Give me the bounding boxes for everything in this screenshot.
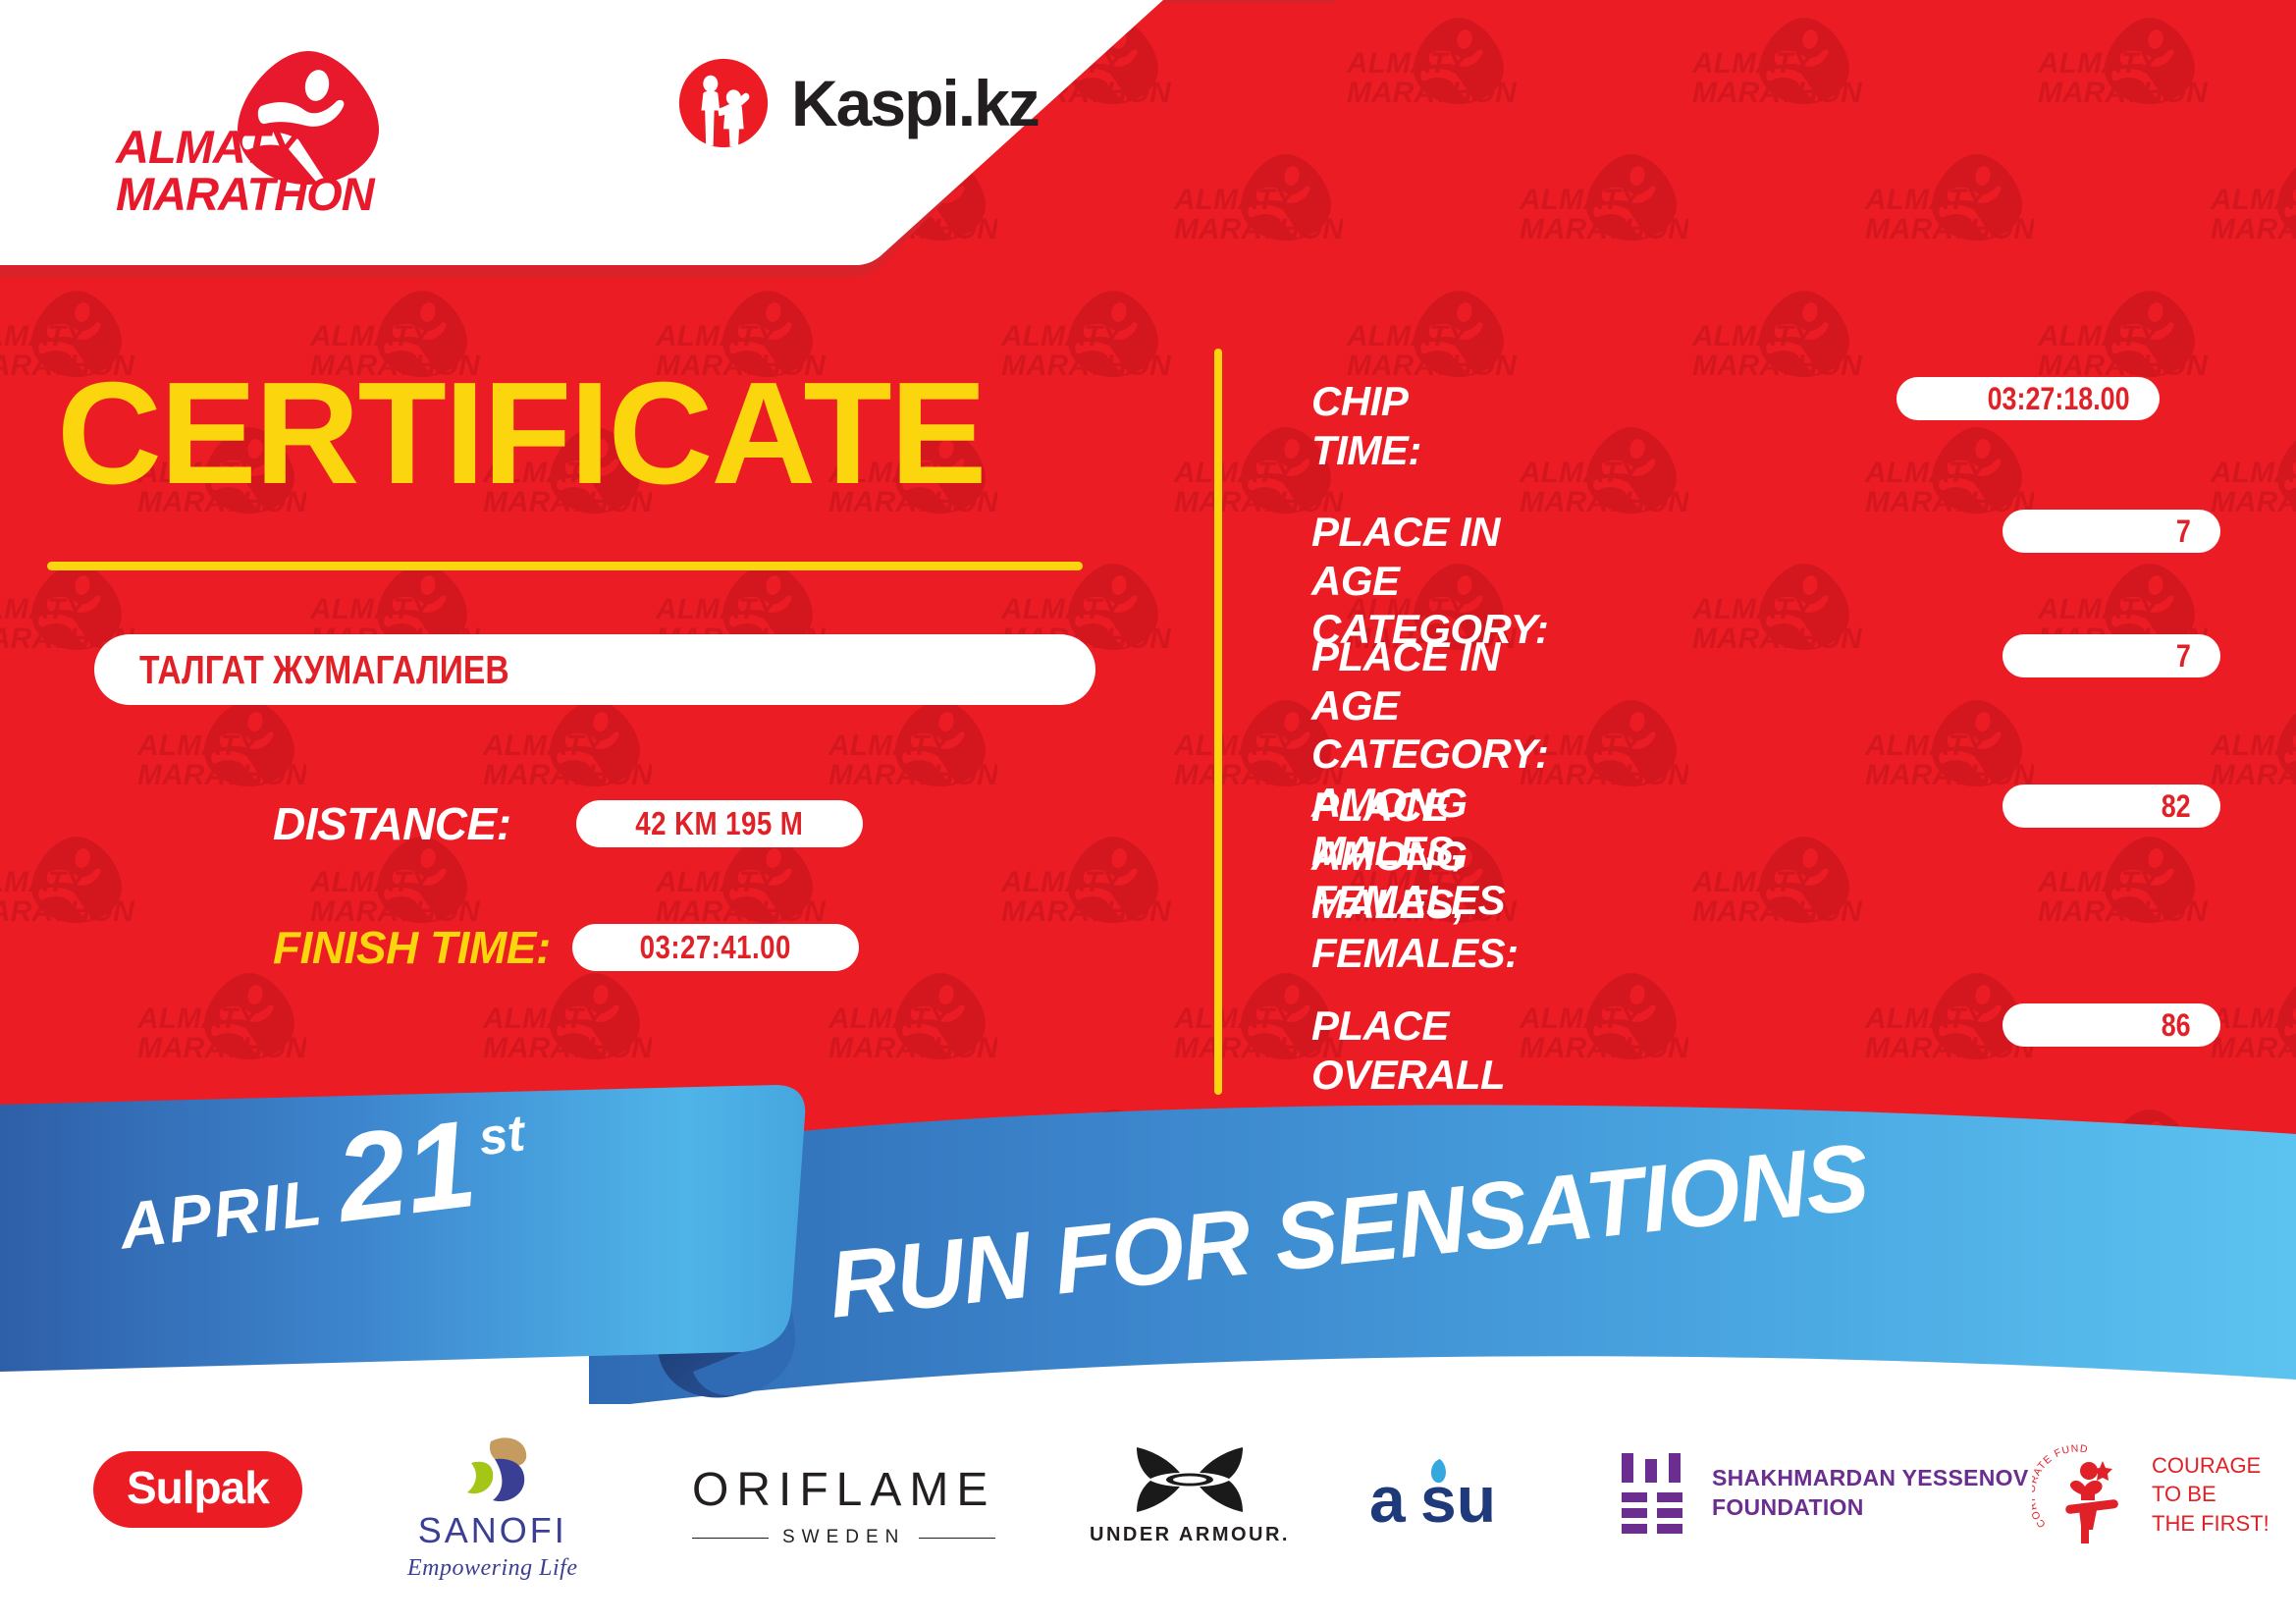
finish-time-label: FINISH TIME: <box>273 921 551 974</box>
place-overall-ranking-label: PLACE OVERALL RANKING: <box>1311 1001 1514 1148</box>
column-divider <box>1214 349 1222 1095</box>
oriflame-sub: SWEDEN <box>782 1527 905 1548</box>
kaspi-people-circle-icon <box>677 57 770 149</box>
certificate-canvas: ALMATY MARATHON Kaspi.kz CERTIFICATE ТАЛ… <box>0 0 2296 1624</box>
place-age-category-among-value: 7 <box>2176 638 2191 675</box>
certificate-left-column: CERTIFICATE ТАЛГАТ ЖУМАГАЛИЕВ <box>0 267 1217 1111</box>
place-overall-ranking-value-pill: 86 <box>2002 1003 2220 1047</box>
event-month: APRIL <box>116 1164 328 1264</box>
oriflame-rule-left <box>692 1538 769 1539</box>
chip-time-value: 03:27:18.00 <box>1988 381 2130 417</box>
almaty-marathon-logo: ALMATY MARATHON <box>116 45 450 202</box>
place-age-category-among-value-pill: 7 <box>2002 634 2220 677</box>
yessenov-label: SHAKHMARDAN YESSENOV FOUNDATION <box>1712 1464 2029 1523</box>
place-among-males-females-label: PLACE AMONG MALES, FEMALES: <box>1311 783 1519 977</box>
asu-logo-icon: a su <box>1369 1451 1566 1534</box>
place-among-males-females-value-pill: 82 <box>2002 785 2220 828</box>
event-day-suffix: st <box>476 1104 528 1167</box>
courage-runner-icon: CORPORATE FUND <box>2032 1441 2138 1547</box>
finish-time-row: FINISH TIME: 03:27:41.00 <box>273 921 859 974</box>
distance-value: 42 KM 195 M <box>635 805 803 842</box>
distance-label: DISTANCE: <box>273 797 511 850</box>
sponsor-courage-to-be-the-first: CORPORATE FUND COURAGE TO BE THE FIRST! <box>2032 1441 2269 1547</box>
athlete-name-field: ТАЛГАТ ЖУМАГАЛИЕВ <box>94 634 1095 705</box>
kaspi-logo: Kaspi.kz <box>677 57 1039 149</box>
chip-time-value-pill: 03:27:18.00 <box>1896 377 2160 420</box>
chip-time-label: CHIP TIME: <box>1311 377 1421 474</box>
place-overall-ranking-value: 86 <box>2162 1007 2191 1044</box>
sanofi-tagline: Empowering Life <box>407 1555 578 1582</box>
courage-label: COURAGE TO BE THE FIRST! <box>2152 1451 2269 1537</box>
place-age-category-value: 7 <box>2176 514 2191 550</box>
sponsor-under-armour: UNDER ARMOUR. <box>1090 1443 1290 1546</box>
athlete-name-value: ТАЛГАТ ЖУМАГАЛИЕВ <box>139 647 509 693</box>
place-among-males-females-value: 82 <box>2162 788 2191 825</box>
finish-time-value-pill: 03:27:41.00 <box>572 924 859 971</box>
sulpak-label: Sulpak <box>127 1461 269 1514</box>
distance-value-pill: 42 KM 195 M <box>576 800 863 847</box>
almaty-logo-line2: MARATHON <box>116 173 374 217</box>
sanofi-label: SANOFI <box>418 1510 567 1551</box>
svg-text:a: a <box>1369 1463 1407 1534</box>
svg-text:su: su <box>1420 1463 1496 1534</box>
red-background-panel: ALMATY MARATHON Kaspi.kz CERTIFICATE ТАЛ… <box>0 0 2296 1183</box>
sponsor-asu: a su <box>1369 1451 1566 1534</box>
place-age-category-value-pill: 7 <box>2002 510 2220 553</box>
oriflame-sub-wrap: SWEDEN <box>692 1527 995 1548</box>
sulpak-logo: Sulpak <box>93 1451 302 1528</box>
yessenov-bars-icon <box>1620 1451 1684 1536</box>
almaty-logo-line1: ALMATY <box>116 126 298 170</box>
under-armour-icon <box>1133 1443 1247 1516</box>
oriflame-rule-right <box>919 1538 995 1539</box>
kaspi-logo-text: Kaspi.kz <box>791 66 1039 140</box>
sponsor-sulpak: Sulpak <box>93 1451 302 1528</box>
sponsor-sanofi: SANOFI Empowering Life <box>407 1435 578 1582</box>
title-underline <box>47 562 1083 570</box>
under-armour-label: UNDER ARMOUR. <box>1090 1524 1290 1546</box>
oriflame-label: ORIFLAME <box>692 1463 995 1517</box>
event-day: 21 <box>331 1110 480 1231</box>
page-title: CERTIFICATE <box>57 361 985 507</box>
sponsor-yessenov-foundation: SHAKHMARDAN YESSENOV FOUNDATION <box>1620 1451 2029 1536</box>
sponsor-oriflame: ORIFLAME SWEDEN <box>692 1463 995 1548</box>
distance-row: DISTANCE: 42 KM 195 M <box>273 797 863 850</box>
finish-time-value: 03:27:41.00 <box>640 929 791 966</box>
sanofi-bird-icon <box>434 1435 552 1506</box>
